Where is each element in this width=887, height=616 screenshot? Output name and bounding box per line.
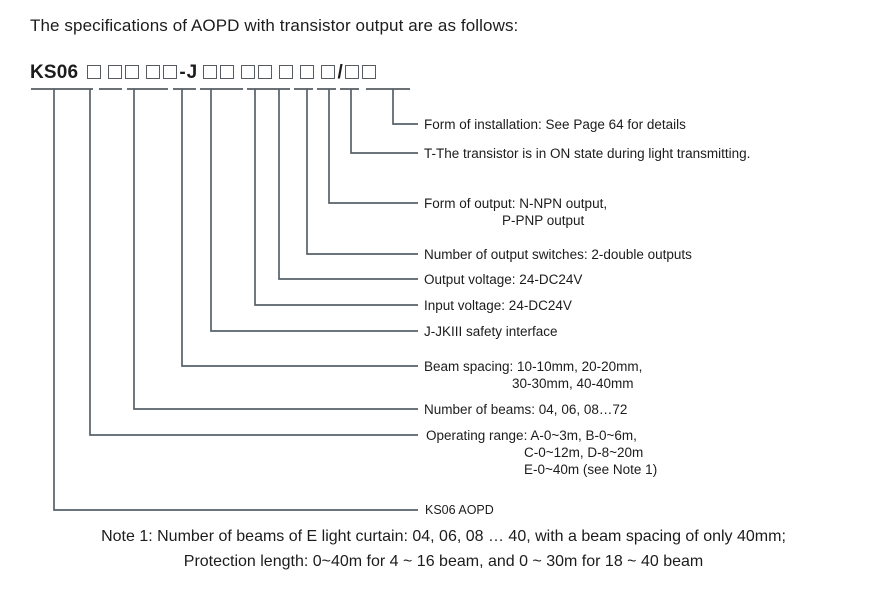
callout-line-1: Number of output switches: 2-double outp… [424, 247, 692, 262]
leader-output-voltage [279, 89, 418, 279]
leader-number-of-beams [134, 89, 418, 409]
code-group-input-voltage [201, 65, 235, 79]
callout-line-1: Input voltage: 24-DC24V [424, 298, 572, 313]
code-box [108, 65, 122, 79]
model-code-prefix: KS06 [30, 63, 78, 82]
callout-number-of-beams: Number of beams: 04, 06, 08…72 [424, 401, 627, 418]
callout-line-2: C-0~12m, D-8~20m [426, 444, 657, 461]
callout-line-1: Beam spacing: 10-10mm, 20-20mm, [424, 359, 642, 374]
leader-safety-interface [211, 89, 418, 331]
leader-operating-range [90, 89, 418, 435]
code-box [345, 65, 359, 79]
callout-transistor-state: T-The transistor is in ON state during l… [424, 145, 750, 162]
code-box [163, 65, 177, 79]
page-title: The specifications of AOPD with transist… [30, 16, 518, 36]
callout-line-1: Number of beams: 04, 06, 08…72 [424, 402, 627, 417]
code-box [300, 65, 314, 79]
code-box [146, 65, 160, 79]
callout-line-1: Output voltage: 24-DC24V [424, 272, 582, 287]
callout-line-1: T-The transistor is in ON state during l… [424, 146, 750, 161]
callout-line-1: KS06 AOPD [425, 503, 494, 517]
footnote-line-1: Note 1: Number of beams of E light curta… [101, 528, 786, 545]
callout-output-voltage: Output voltage: 24-DC24V [424, 271, 582, 288]
callout-beam-spacing: Beam spacing: 10-10mm, 20-20mm, 30-30mm,… [424, 358, 642, 392]
model-code-string: KS06 - J / [30, 59, 378, 85]
code-group-beam-spacing [144, 65, 178, 79]
code-group-output-voltage [239, 65, 273, 79]
code-box [203, 65, 217, 79]
leader-output-switches [307, 89, 418, 254]
callout-line-2: P-PNP output [424, 212, 607, 229]
callout-product-name: KS06 AOPD [425, 503, 494, 517]
leader-form-of-installation [393, 89, 418, 124]
callout-operating-range: Operating range: A-0~3m, B-0~6m, C-0~12m… [426, 427, 657, 478]
model-code-j: J [187, 63, 198, 82]
model-code-slash: / [336, 63, 343, 82]
footnote-line-2: Protection length: 0~40m for 4 ~ 16 beam… [0, 549, 887, 574]
code-box [362, 65, 376, 79]
callout-line-1: Form of output: N-NPN output, [424, 196, 607, 211]
code-group-number-of-beams [106, 65, 140, 79]
code-group-operating-range [85, 65, 102, 79]
callout-output-switches: Number of output switches: 2-double outp… [424, 246, 692, 263]
code-group-output-switches [277, 65, 294, 79]
callout-line-1: J-JKIII safety interface [424, 324, 558, 339]
callout-form-of-installation: Form of installation: See Page 64 for de… [424, 116, 686, 133]
model-code-dash: - [178, 63, 186, 82]
leader-product-name [54, 89, 418, 510]
callout-input-voltage: Input voltage: 24-DC24V [424, 297, 572, 314]
code-group-form-of-output [298, 65, 315, 79]
code-box [279, 65, 293, 79]
code-box [125, 65, 139, 79]
code-group-transistor-state [319, 65, 336, 79]
code-box [220, 65, 234, 79]
code-box [87, 65, 101, 79]
callout-line-3: E-0~40m (see Note 1) [426, 461, 657, 478]
leader-beam-spacing [182, 89, 418, 366]
code-box [258, 65, 272, 79]
callout-line-1: Operating range: A-0~3m, B-0~6m, [426, 428, 637, 443]
callout-safety-interface: J-JKIII safety interface [424, 323, 558, 340]
callout-form-of-output: Form of output: N-NPN output, P-PNP outp… [424, 195, 607, 229]
leader-input-voltage [255, 89, 418, 305]
callout-line-2: 30-30mm, 40-40mm [424, 375, 642, 392]
code-box [241, 65, 255, 79]
callout-line-1: Form of installation: See Page 64 for de… [424, 117, 686, 132]
leader-transistor-state [351, 89, 418, 153]
code-box [321, 65, 335, 79]
leader-form-of-output [329, 89, 418, 203]
footnote: Note 1: Number of beams of E light curta… [0, 524, 887, 574]
code-group-form-of-installation [344, 65, 378, 79]
